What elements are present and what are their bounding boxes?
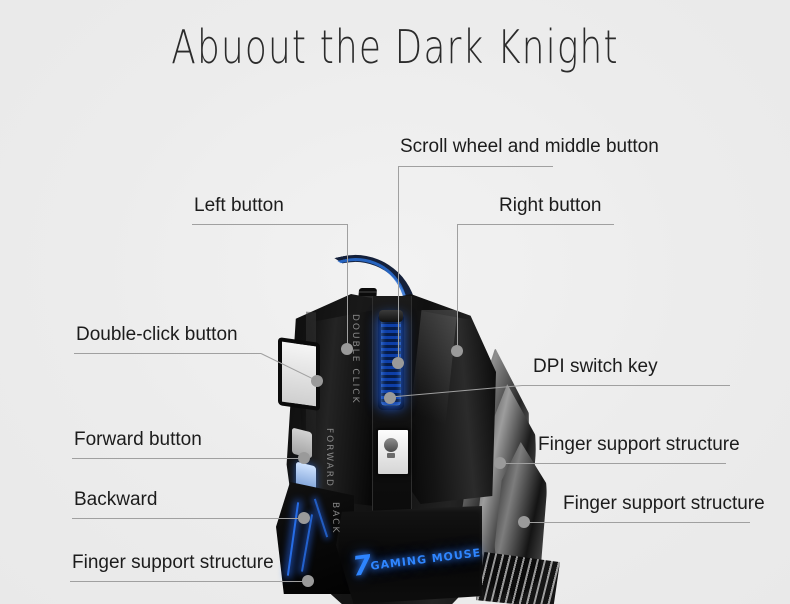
leader-line bbox=[72, 458, 304, 459]
callout-dot bbox=[384, 392, 396, 404]
leader-line bbox=[457, 224, 614, 225]
callout-dot bbox=[518, 516, 530, 528]
callout-dot bbox=[311, 375, 323, 387]
leader-line bbox=[524, 522, 750, 523]
leader-line bbox=[522, 385, 730, 386]
engraving-double-click: DOUBLE CLICK bbox=[350, 314, 360, 404]
callout-dot bbox=[302, 575, 314, 587]
leader-line bbox=[70, 581, 308, 582]
leader-line bbox=[398, 166, 399, 363]
callout-label-finger-support-right-2: Finger support structure bbox=[563, 494, 765, 514]
callout-label-backward-button: Backward bbox=[74, 490, 157, 510]
callout-label-right-button: Right button bbox=[499, 196, 601, 216]
leader-line bbox=[72, 518, 304, 519]
dpi-button-glyph-icon bbox=[384, 438, 398, 452]
callout-label-double-click-button: Double-click button bbox=[76, 325, 238, 345]
brand-logo-mark: 7 bbox=[351, 550, 372, 583]
callout-dot bbox=[298, 452, 310, 464]
callout-dot bbox=[451, 345, 463, 357]
callout-label-forward-button: Forward button bbox=[74, 430, 202, 450]
leader-line bbox=[192, 224, 348, 225]
callout-label-left-button: Left button bbox=[194, 196, 284, 216]
leader-line bbox=[347, 224, 348, 347]
engraving-forward: FORWARD bbox=[324, 428, 334, 488]
callout-dot bbox=[341, 343, 353, 355]
callout-label-finger-support-left: Finger support structure bbox=[72, 553, 274, 573]
product-annotation-diagram: Abuout the Dark Knight 7GAMING MOUSE DOU… bbox=[0, 0, 790, 604]
gaming-mouse-image: 7GAMING MOUSE DOUBLE CLICK FORWARD BACK bbox=[262, 252, 592, 604]
double-click-side-button bbox=[278, 337, 320, 411]
callout-dot bbox=[298, 512, 310, 524]
callout-dot bbox=[494, 457, 506, 469]
callout-dot bbox=[392, 357, 404, 369]
callout-label-scroll-wheel: Scroll wheel and middle button bbox=[400, 137, 659, 157]
leader-line bbox=[74, 353, 261, 354]
callout-label-finger-support-right-1: Finger support structure bbox=[538, 435, 740, 455]
rear-vent-fins bbox=[476, 552, 560, 604]
engraving-back: BACK bbox=[330, 502, 340, 534]
page-title: Abuout the Dark Knight bbox=[87, 20, 703, 74]
leader-line bbox=[500, 463, 726, 464]
leader-line bbox=[457, 224, 458, 349]
callout-label-dpi-switch-key: DPI switch key bbox=[533, 357, 658, 377]
leader-line bbox=[398, 166, 553, 167]
dpi-switch-button bbox=[376, 428, 410, 476]
scroll-wheel-shroud bbox=[379, 310, 403, 322]
